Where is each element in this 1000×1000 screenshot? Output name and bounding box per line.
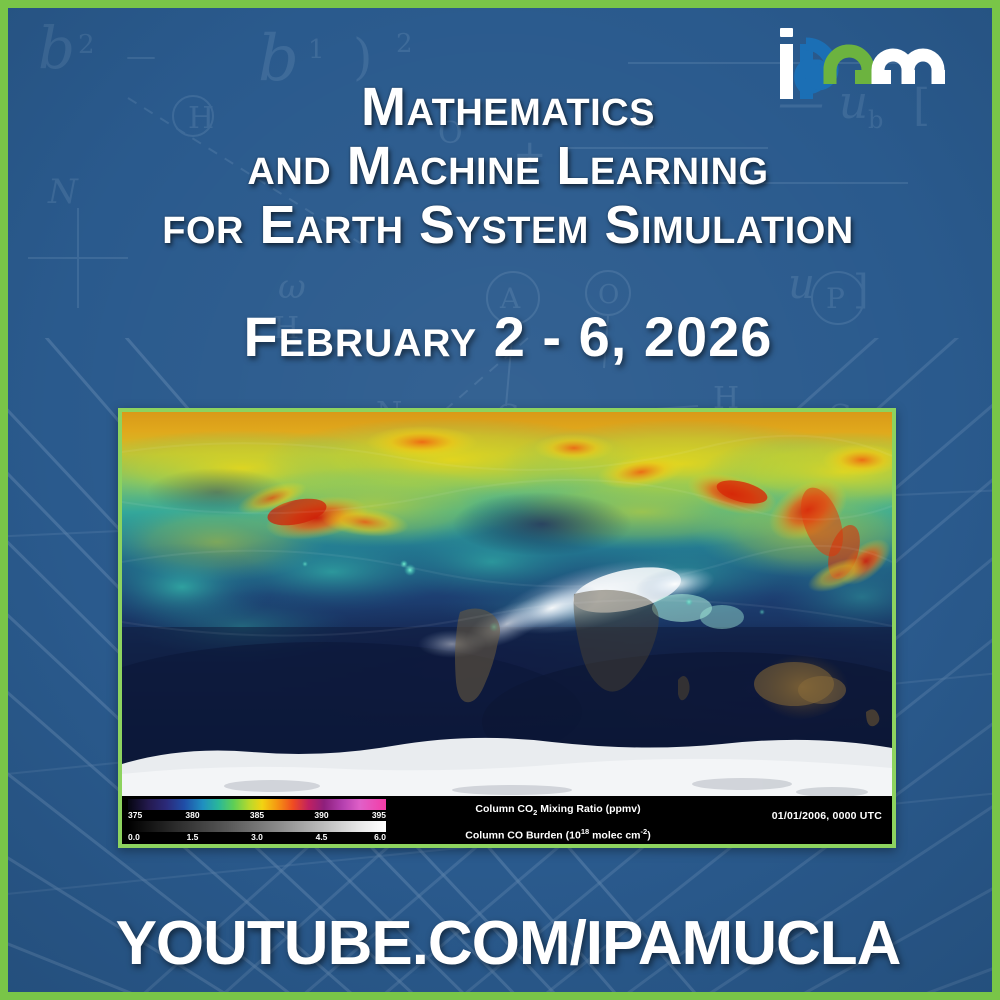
co-colorbar [128, 821, 386, 832]
title-line-2: and Machine Learning [8, 139, 1000, 194]
co2-legend-label: Column CO2 Mixing Ratio (ppmv) [408, 800, 708, 822]
co2-colorbar [128, 799, 386, 810]
title-block: Mathematics and Machine Learning for Ear… [8, 80, 1000, 253]
co-tick-labels: 0.0 1.5 3.0 4.5 6.0 [128, 832, 386, 844]
poster: b 2 — b 1 ) 2 H H A O P N C H C H b N [0, 0, 1000, 1000]
global-co2-map [122, 412, 892, 796]
visualization-figure: 375 380 385 390 395 0.0 1.5 3.0 4.5 6.0 … [118, 408, 896, 848]
figure-legend: 375 380 385 390 395 0.0 1.5 3.0 4.5 6.0 … [122, 796, 892, 844]
figure-timestamp: 01/01/2006, 0000 UTC [772, 810, 882, 822]
youtube-url[interactable]: YOUTUBE.COM/IPAMUCLA [8, 908, 1000, 979]
legend-axis-labels: Column CO2 Mixing Ratio (ppmv) Column CO… [408, 800, 708, 846]
co-legend-label: Column CO Burden (1018 molec cm-2) [408, 822, 708, 846]
title-line-3: for Earth System Simulation [8, 198, 1000, 253]
event-dates: February 2 - 6, 2026 [8, 304, 1000, 369]
title-line-1: Mathematics [8, 80, 1000, 135]
